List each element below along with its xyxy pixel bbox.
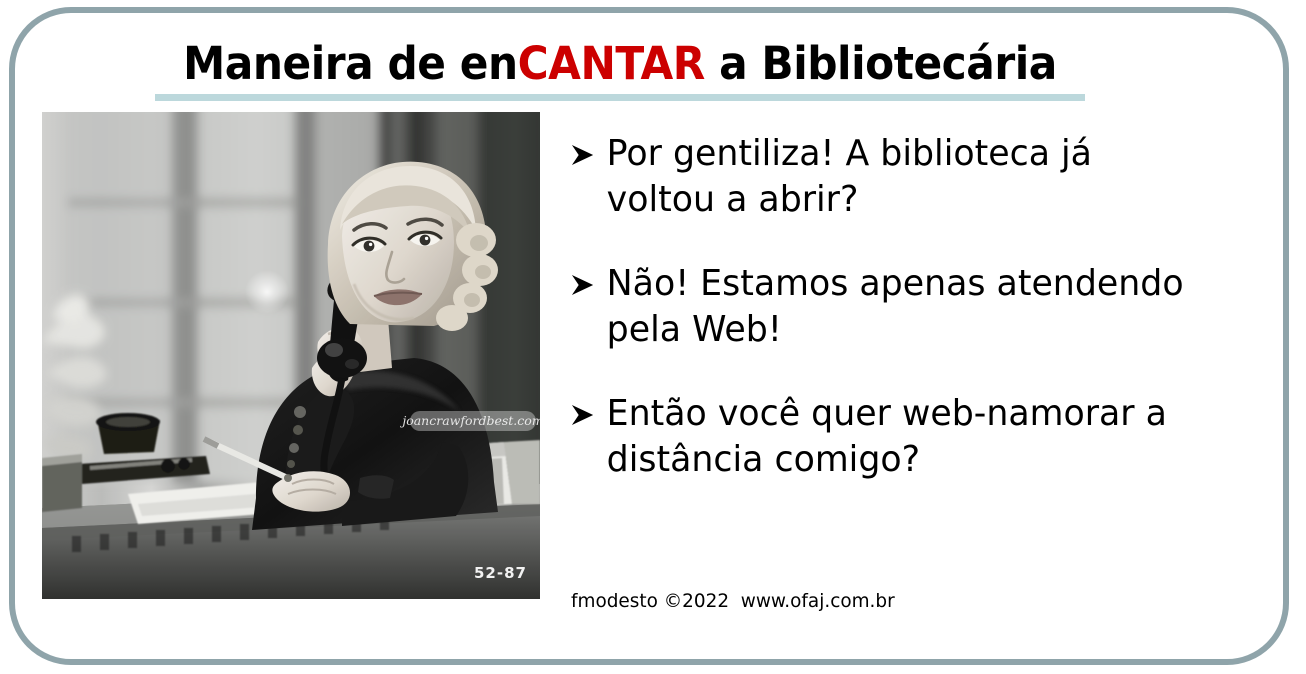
title-suffix: a Bibliotecária xyxy=(705,37,1057,90)
list-item-text: Por gentiliza! A biblioteca já voltou a … xyxy=(607,133,1092,220)
arrowhead-bullet-icon xyxy=(570,392,601,426)
list-item-text: Então você quer web-namorar a distância … xyxy=(607,393,1167,480)
page-title: Maneira de enCANTAR a Bibliotecária xyxy=(150,38,1090,90)
title-highlight: CANTAR xyxy=(518,37,705,90)
bullet-list: Por gentiliza! A biblioteca já voltou a … xyxy=(570,131,1210,483)
credit-line: fmodesto ©2022 www.ofaj.com.br xyxy=(571,589,895,613)
list-item: Por gentiliza! A biblioteca já voltou a … xyxy=(570,131,1188,223)
list-item-text: Não! Estamos apenas atendendo pela Web! xyxy=(607,263,1184,350)
title-prefix: Maneira de en xyxy=(183,37,517,90)
title-underline-rule xyxy=(155,94,1085,101)
photo-woman-on-telephone: joancrawfordbest.com 52-87 xyxy=(42,112,540,599)
list-item: Então você quer web-namorar a distância … xyxy=(570,391,1188,483)
arrowhead-bullet-icon xyxy=(570,262,601,296)
list-item: Não! Estamos apenas atendendo pela Web! xyxy=(570,261,1188,353)
slide: Maneira de enCANTAR a Bibliotecária xyxy=(0,0,1306,674)
arrowhead-bullet-icon xyxy=(570,132,601,166)
title-block: Maneira de enCANTAR a Bibliotecária xyxy=(120,38,1120,101)
photo-illustration: joancrawfordbest.com 52-87 xyxy=(42,112,540,599)
